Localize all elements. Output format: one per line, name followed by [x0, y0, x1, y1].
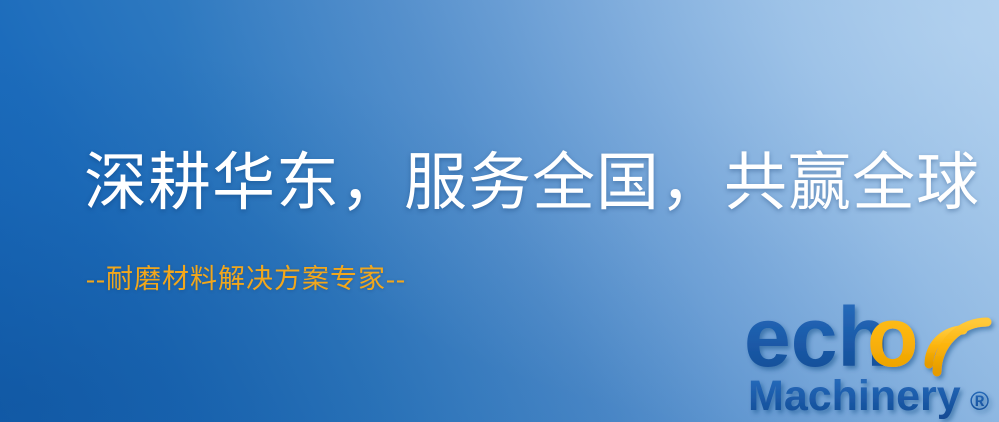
echo-machinery-logo: ech o Machinery ®: [744, 296, 999, 422]
echo-arcs-icon: [929, 314, 995, 380]
logo-wordmark-o: o: [867, 296, 918, 384]
subtitle-text: --耐磨材料解决方案专家--: [86, 266, 406, 293]
hero-banner: 深耕华东，服务全国，共赢全球 --耐磨材料解决方案专家--: [0, 0, 999, 422]
logo-tagline: Machinery: [748, 372, 961, 420]
registered-trademark-icon: ®: [970, 386, 989, 416]
headline-text: 深耕华东，服务全国，共赢全球: [84, 152, 980, 215]
